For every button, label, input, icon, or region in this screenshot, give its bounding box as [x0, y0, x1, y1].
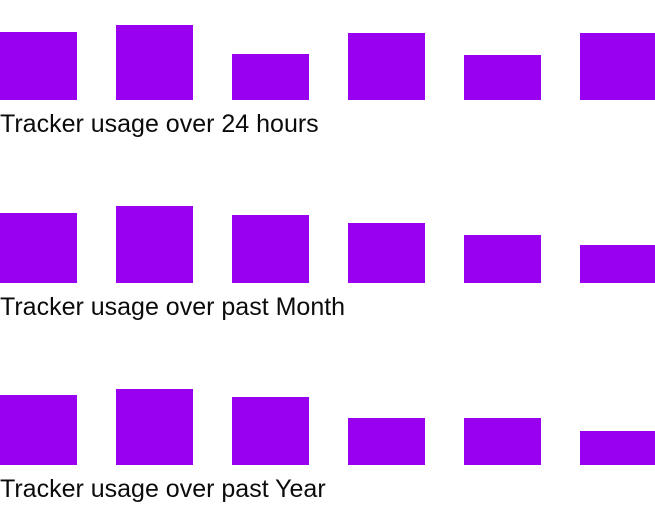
bar	[464, 235, 541, 283]
bar	[232, 215, 309, 283]
chart-block-24-hours: Tracker usage over 24 hours	[0, 0, 655, 150]
bar	[116, 25, 193, 100]
chart-block-past-month: Tracker usage over past Month	[0, 183, 655, 333]
bar	[580, 245, 655, 283]
bar	[348, 223, 425, 283]
bar	[0, 395, 77, 465]
tracker-usage-page: Tracker usage over 24 hours Tracker usag…	[0, 0, 655, 530]
bar	[464, 418, 541, 465]
bar-chart-past-month	[0, 183, 655, 283]
bar	[348, 33, 425, 100]
bar	[232, 397, 309, 465]
bar	[464, 55, 541, 100]
bar	[116, 206, 193, 283]
bar	[232, 54, 309, 100]
chart-caption-past-month: Tracker usage over past Month	[0, 293, 345, 322]
bar	[0, 32, 77, 100]
bar	[348, 418, 425, 465]
chart-caption-past-year: Tracker usage over past Year	[0, 475, 326, 504]
bar	[0, 213, 77, 283]
bar	[580, 33, 655, 100]
bar	[116, 389, 193, 465]
bar-chart-past-year	[0, 365, 655, 465]
bar-chart-24-hours	[0, 0, 655, 100]
chart-block-past-year: Tracker usage over past Year	[0, 365, 655, 525]
bar	[580, 431, 655, 465]
chart-caption-24-hours: Tracker usage over 24 hours	[0, 110, 319, 139]
